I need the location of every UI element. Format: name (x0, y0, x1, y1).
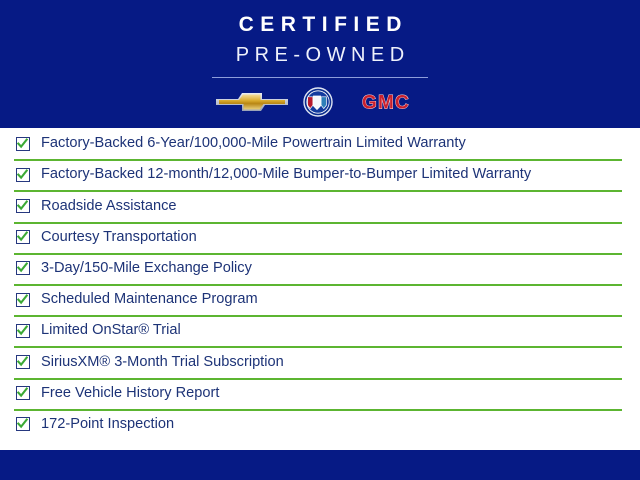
buick-logo (303, 87, 333, 122)
checkbox-icon[interactable] (16, 293, 30, 307)
benefits-list: Factory-Backed 6-Year/100,000-Mile Power… (0, 128, 640, 450)
checkbox-icon[interactable] (16, 324, 30, 338)
list-item: Factory-Backed 12-month/12,000-Mile Bump… (0, 159, 640, 190)
certified-pre-owned-graphic: CERTIFIED PRE-OWNED (0, 0, 640, 480)
checkbox-icon[interactable] (16, 199, 30, 213)
checkbox-icon[interactable] (16, 230, 30, 244)
svg-text:GMC: GMC (362, 92, 410, 113)
brand-logo-row: GMC (215, 88, 425, 120)
footer-band (0, 450, 640, 480)
list-item-label: Limited OnStar® Trial (41, 323, 181, 338)
checkbox-icon[interactable] (16, 168, 30, 182)
list-item: Free Vehicle History Report (0, 378, 640, 409)
list-item-label: SiriusXM® 3-Month Trial Subscription (41, 355, 284, 370)
list-item: Courtesy Transportation (0, 222, 640, 253)
list-item: Scheduled Maintenance Program (0, 284, 640, 315)
list-item-label: Factory-Backed 6-Year/100,000-Mile Power… (41, 136, 466, 151)
page-title-certified: CERTIFIED (232, 14, 408, 35)
checkbox-icon[interactable] (16, 355, 30, 369)
list-item-label: 172-Point Inspection (41, 417, 174, 432)
list-item-label: 3-Day/150-Mile Exchange Policy (41, 261, 252, 276)
checkbox-icon[interactable] (16, 261, 30, 275)
list-item-label: Courtesy Transportation (41, 230, 197, 245)
list-item: SiriusXM® 3-Month Trial Subscription (0, 346, 640, 377)
list-item: 172-Point Inspection (0, 409, 640, 440)
list-item: Limited OnStar® Trial (0, 315, 640, 346)
header-banner: CERTIFIED PRE-OWNED (0, 0, 640, 128)
gmc-logo: GMC (347, 90, 425, 119)
checkbox-icon[interactable] (16, 386, 30, 400)
list-item-label: Factory-Backed 12-month/12,000-Mile Bump… (41, 167, 531, 182)
list-item-label: Scheduled Maintenance Program (41, 292, 258, 307)
page-title-pre-owned: PRE-OWNED (230, 45, 409, 65)
checkbox-icon[interactable] (16, 137, 30, 151)
list-item: Factory-Backed 6-Year/100,000-Mile Power… (0, 128, 640, 159)
list-item-label: Free Vehicle History Report (41, 386, 219, 401)
list-item: 3-Day/150-Mile Exchange Policy (0, 253, 640, 284)
chevrolet-logo (215, 89, 289, 120)
list-item: Roadside Assistance (0, 190, 640, 221)
banner-divider (212, 77, 428, 78)
checkbox-icon[interactable] (16, 417, 30, 431)
list-item-label: Roadside Assistance (41, 199, 176, 214)
